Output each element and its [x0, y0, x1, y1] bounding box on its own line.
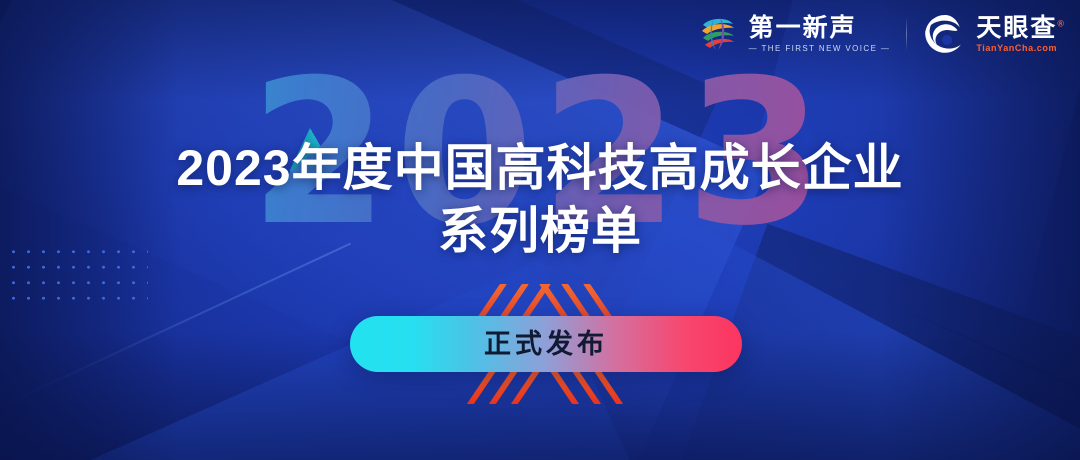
logo-tianyancha-tagline: TianYanCha.com [976, 43, 1066, 53]
swoosh-ribbon-icon [696, 12, 740, 56]
eye-shutter-icon [923, 12, 967, 56]
logo-tianyancha[interactable]: 天眼查® TianYanCha.com [923, 12, 1066, 56]
logo-tianyancha-name: 天眼查® [976, 15, 1066, 41]
logo-tianyancha-name-cn: 天眼查 [976, 14, 1057, 42]
logo-diyixinsheng-tagline: — THE FIRST NEW VOICE — [749, 44, 891, 53]
logo-diyixinsheng-name: 第一新声 [749, 15, 891, 41]
logo-divider [906, 17, 907, 51]
release-button[interactable]: 正式发布 [350, 316, 742, 372]
promo-banner: 2023 2023年度中国高科技高成长企业 系列榜单 正式发布 [0, 0, 1080, 460]
logo-diyixinsheng[interactable]: 第一新声 — THE FIRST NEW VOICE — [696, 12, 891, 56]
page-title: 2023年度中国高科技高成长企业 系列榜单 [0, 140, 1080, 260]
registered-trademark-icon: ® [1057, 19, 1066, 29]
logo-tianyancha-text: 天眼查® TianYanCha.com [976, 15, 1066, 52]
logo-bar: 第一新声 — THE FIRST NEW VOICE — 天眼查® TianYa… [696, 12, 1066, 56]
page-title-line-2: 系列榜单 [0, 203, 1080, 260]
page-title-line-1: 2023年度中国高科技高成长企业 [0, 140, 1080, 197]
logo-diyixinsheng-text: 第一新声 — THE FIRST NEW VOICE — [749, 15, 891, 52]
